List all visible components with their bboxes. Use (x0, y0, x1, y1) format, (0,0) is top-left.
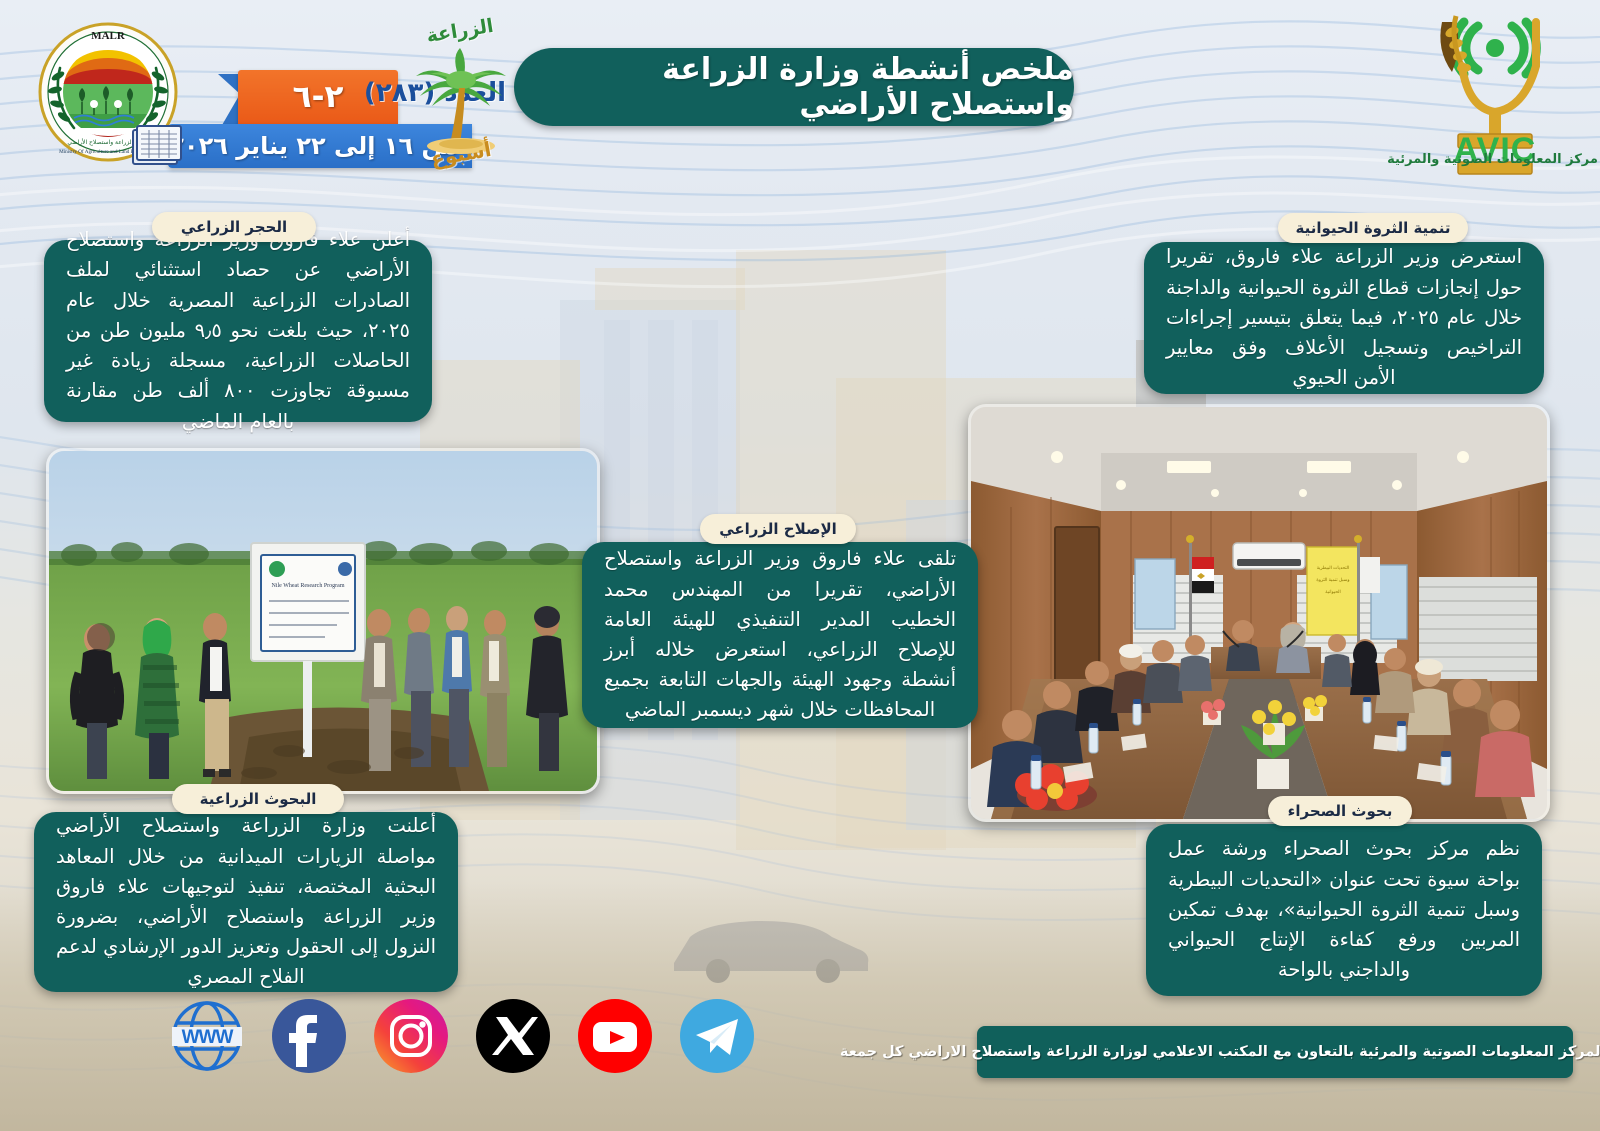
youtube-icon[interactable] (578, 999, 652, 1073)
card-label-quarantine: الحجر الزراعي (152, 212, 316, 242)
card-label-livestock-text: تنمية الثروة الحيوانية (1296, 219, 1451, 237)
card-label-livestock: تنمية الثروة الحيوانية (1278, 213, 1468, 243)
card-label-agricultural-research-text: البحوث الزراعية (200, 790, 317, 808)
card-label-desert-research: بحوث الصحراء (1268, 796, 1412, 826)
infographic-canvas: MALR Ministry Of Agriculture and Land Re… (0, 0, 1600, 1131)
card-agrarian-reform-body: تلقى علاء فاروق وزير الزراعة واستصلاح ال… (582, 530, 978, 739)
card-label-quarantine-text: الحجر الزراعي (181, 218, 287, 236)
card-label-desert-research-text: بحوث الصحراء (1288, 802, 1393, 820)
svg-text:Nile Wheat Research Program: Nile Wheat Research Program (271, 583, 344, 589)
instagram-icon[interactable] (374, 999, 448, 1073)
footer-bar: اصدار اسبوعي لمركز المعلومات الصوتية وال… (977, 1026, 1573, 1078)
calendar-icon (130, 122, 186, 170)
social-links: WWW (170, 999, 770, 1077)
card-livestock: استعرض وزير الزراعة علاء فاروق، تقريرا ح… (1144, 242, 1544, 394)
card-desert-research: نظم مركز بحوث الصحراء ورشة عمل بواحة سيو… (1146, 824, 1542, 996)
card-desert-research-body: نظم مركز بحوث الصحراء ورشة عمل بواحة سيو… (1146, 820, 1542, 999)
svg-text:WWW: WWW (182, 1027, 234, 1048)
page-title-text: ملخص أنشطة وزارة الزراعة واستصلاح الأراض… (514, 52, 1074, 122)
x-twitter-icon[interactable] (476, 999, 550, 1073)
website-icon[interactable]: WWW (170, 999, 244, 1073)
footer-text: اصدار اسبوعي لمركز المعلومات الصوتية وال… (840, 1044, 1600, 1060)
card-agricultural-research-body: أعلنت وزارة الزراعة واستصلاح الأراضي موا… (34, 797, 458, 1006)
svg-text:MALR: MALR (91, 30, 126, 42)
card-quarantine-body: أعلن علاء فاروق وزير الزراعة واستصلاح ال… (44, 211, 432, 451)
card-agricultural-research: أعلنت وزارة الزراعة واستصلاح الأراضي موا… (34, 812, 458, 992)
issue-number-text: ٢-٦ (293, 79, 344, 115)
bg-car-silhouette (660, 905, 880, 985)
page-title: ملخص أنشطة وزارة الزراعة واستصلاح الأراض… (514, 48, 1074, 126)
agriculture-week-palm-logo: الزراعة أسبوع (392, 16, 528, 184)
card-quarantine: أعلن علاء فاروق وزير الزراعة واستصلاح ال… (44, 240, 432, 422)
card-agrarian-reform: تلقى علاء فاروق وزير الزراعة واستصلاح ال… (582, 542, 978, 728)
card-label-agrarian-reform-text: الإصلاح الزراعي (719, 520, 837, 538)
avic-caption: مركز المعلومات الصوتية والمرئية (1375, 152, 1600, 167)
field-visit-photo: Nile Wheat Research Program (46, 448, 600, 794)
card-label-agricultural-research: البحوث الزراعية (172, 784, 344, 814)
card-label-agrarian-reform: الإصلاح الزراعي (700, 514, 856, 544)
telegram-icon[interactable] (680, 999, 754, 1073)
facebook-icon[interactable] (272, 999, 346, 1073)
meeting-room-photo: التحديات البيطرية وسبل تنمية الثروة الحي… (968, 404, 1550, 822)
card-livestock-body: استعرض وزير الزراعة علاء فاروق، تقريرا ح… (1144, 228, 1544, 407)
